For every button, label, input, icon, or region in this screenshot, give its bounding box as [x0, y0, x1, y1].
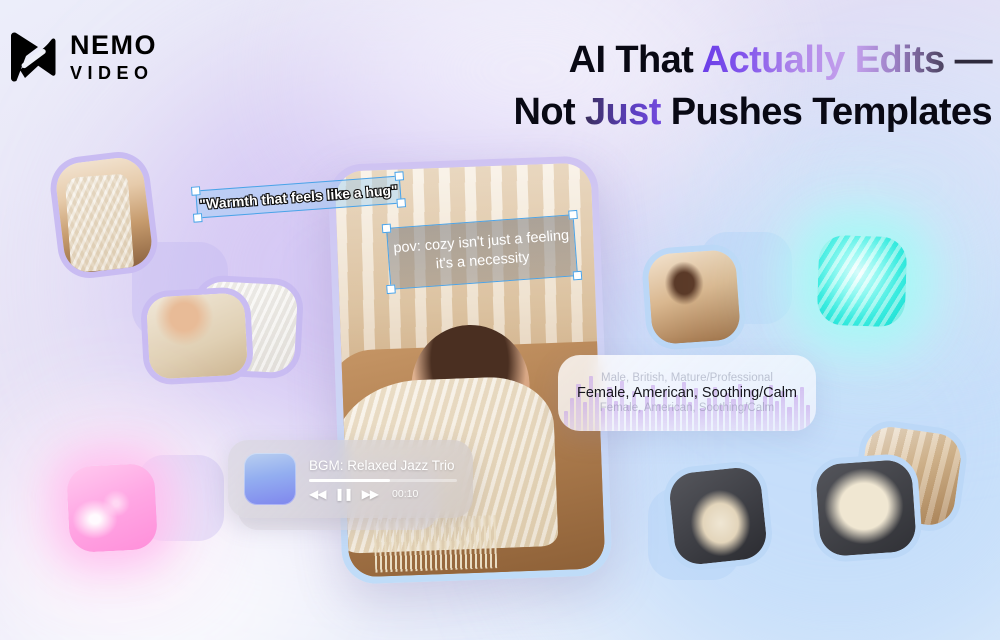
nemo-play-mark-icon [8, 30, 56, 84]
thumbnail-card-hands-knit[interactable] [146, 292, 248, 379]
brand-wordmark: NEMO VIDEO [70, 32, 157, 82]
headline-seg-pushes-templates: Pushes Templates [671, 91, 992, 133]
bgm-track-title: BGM: Relaxed Jazz Trio [309, 458, 457, 473]
brand-logo[interactable]: NEMO VIDEO [8, 30, 157, 84]
thumbnail-card-pink-glow[interactable] [66, 463, 158, 553]
bgm-body: BGM: Relaxed Jazz Trio ◀◀ ❚❚ ▶▶ 00:10 [309, 458, 457, 500]
fast-forward-icon[interactable]: ▶▶ [362, 488, 378, 500]
resize-handle-bottom-right[interactable] [396, 198, 406, 208]
voice-option-list: Male, British, Mature/Professional Femal… [558, 355, 816, 431]
album-art [244, 453, 296, 505]
resize-handle-top-left[interactable] [382, 224, 392, 234]
pause-icon[interactable]: ❚❚ [334, 488, 352, 500]
card-art [815, 459, 917, 557]
headline-seg-actually: Actually [702, 39, 855, 81]
headline-seg-edits: Edits [855, 39, 945, 81]
card-art [65, 174, 135, 273]
headline-line-2: Not Just Pushes Templates [514, 86, 992, 138]
voice-option-selected[interactable]: Female, American, Soothing/Calm [577, 385, 797, 401]
page-title: AI That Actually Edits — Not Just Pushes… [514, 34, 992, 139]
voice-selector-panel[interactable]: Male, British, Mature/Professional Femal… [558, 355, 816, 431]
thumbnail-card-dark-throw[interactable] [667, 465, 768, 566]
voice-option-previous[interactable]: Male, British, Mature/Professional [601, 372, 773, 384]
thumbnail-card-fringe-throw[interactable] [815, 459, 917, 557]
headline-seg-not: Not [514, 91, 585, 133]
resize-handle-bottom-left[interactable] [386, 284, 396, 294]
bgm-elapsed-time: 00:10 [392, 488, 418, 500]
resize-handle-top-right[interactable] [568, 210, 578, 220]
bgm-transport-controls: ◀◀ ❚❚ ▶▶ 00:10 [309, 488, 457, 500]
thumbnail-card-cyan-sketch[interactable] [816, 234, 907, 327]
resize-handle-bottom-left[interactable] [193, 213, 203, 223]
resize-handle-bottom-right[interactable] [573, 271, 583, 281]
thumbnail-card-person-bed[interactable] [647, 249, 741, 345]
hero-canvas: NEMO VIDEO AI That Actually Edits — Not … [0, 0, 1000, 640]
rewind-icon[interactable]: ◀◀ [309, 488, 325, 500]
resize-handle-top-left[interactable] [191, 186, 201, 196]
headline-seg-ai-that: AI That [569, 39, 702, 81]
brand-name: NEMO [70, 32, 157, 59]
bgm-progress-fill [309, 479, 390, 482]
thumbnail-card-knit-cream-left[interactable] [54, 155, 155, 275]
card-art [647, 249, 741, 345]
resize-handle-top-right[interactable] [394, 171, 404, 181]
bgm-player-panel[interactable]: BGM: Relaxed Jazz Trio ◀◀ ❚❚ ▶▶ 00:10 [228, 440, 473, 518]
headline-line-1: AI That Actually Edits — [569, 39, 992, 81]
headline-seg-dash: — [945, 39, 992, 81]
brand-subname: VIDEO [70, 64, 157, 82]
headline-seg-just: Just [585, 91, 671, 133]
card-art [146, 292, 248, 379]
voice-option-next[interactable]: Female, American, Soothing/Calm [600, 402, 775, 414]
bgm-progress-bar[interactable] [309, 479, 457, 482]
